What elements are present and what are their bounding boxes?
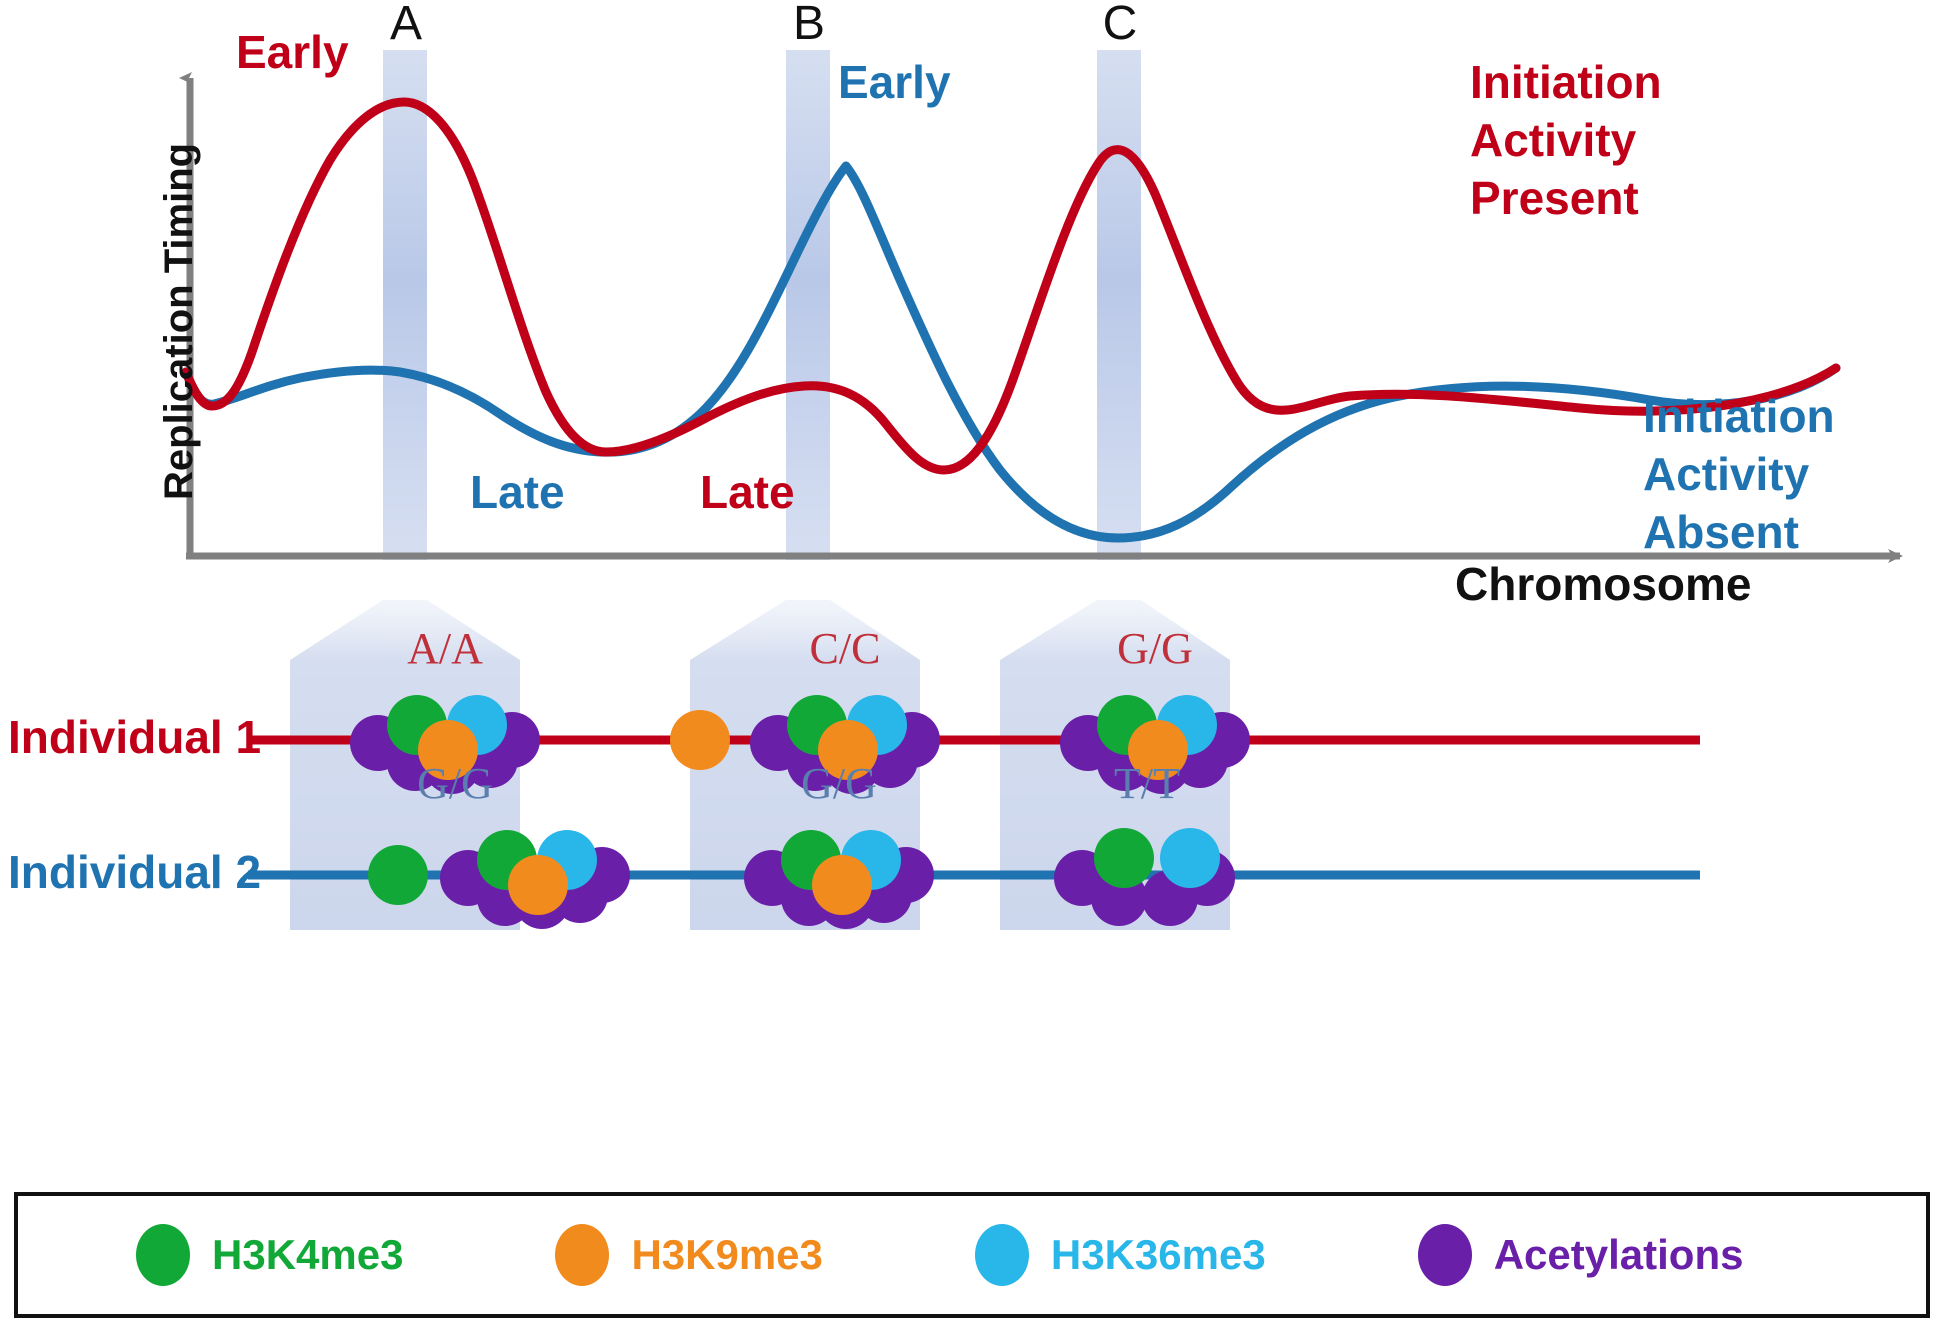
initiation-present-line-2: Activity <box>1470 116 1636 166</box>
legend-item-h3k9me3: H3K9me3 <box>555 1224 822 1286</box>
genotype-i2-a: G/G <box>340 760 570 808</box>
h3k9me3-dot <box>555 1224 609 1286</box>
track-label-individual-2: Individual 2 <box>8 848 261 898</box>
y-axis-label: Replication Timing <box>158 143 201 500</box>
site-label-b: B <box>786 0 832 50</box>
legend-label-h3k9me3: H3K9me3 <box>631 1231 822 1279</box>
acetylations-dot <box>1418 1224 1472 1286</box>
initiation-present-line-1: Initiation <box>1470 58 1662 108</box>
annotation-early-red: Early <box>236 28 349 78</box>
chromatin-track-panel <box>0 600 1950 1170</box>
genotype-i2-c: T/T <box>1032 760 1262 808</box>
annotation-late-blue: Late <box>470 468 565 518</box>
annotation-early-blue: Early <box>838 58 951 108</box>
initiation-absent-line-3: Absent <box>1643 508 1799 558</box>
figure-root: Replication Timing Chromosome A B C Earl… <box>0 0 1950 1329</box>
legend-label-h3k4me3: H3K4me3 <box>212 1231 403 1279</box>
track-label-individual-1: Individual 1 <box>8 713 261 763</box>
initiation-absent-line-2: Activity <box>1643 450 1809 500</box>
genotype-i1-b: C/C <box>730 625 960 673</box>
initiation-present-line-3: Present <box>1470 174 1639 224</box>
annotation-late-red: Late <box>700 468 795 518</box>
legend-item-h3k4me3: H3K4me3 <box>136 1224 403 1286</box>
legend-label-h3k36me3: H3K36me3 <box>1051 1231 1266 1279</box>
legend-panel: H3K4me3 H3K9me3 H3K36me3 Acetylations <box>14 1192 1930 1318</box>
genotype-i1-a: A/A <box>330 625 560 673</box>
genotype-i2-b: G/G <box>724 760 954 808</box>
site-label-a: A <box>383 0 429 50</box>
h3k36me3-dot <box>975 1224 1029 1286</box>
site-band-c <box>1097 50 1141 560</box>
h3k4me3-dot <box>136 1224 190 1286</box>
genotype-i1-c: G/G <box>1040 625 1270 673</box>
legend-item-h3k36me3: H3K36me3 <box>975 1224 1266 1286</box>
legend-item-acetylations: Acetylations <box>1418 1224 1744 1286</box>
site-label-c: C <box>1097 0 1143 50</box>
legend-label-acetylations: Acetylations <box>1494 1231 1744 1279</box>
initiation-absent-line-1: Initiation <box>1643 392 1835 442</box>
site-band-a <box>383 50 427 560</box>
